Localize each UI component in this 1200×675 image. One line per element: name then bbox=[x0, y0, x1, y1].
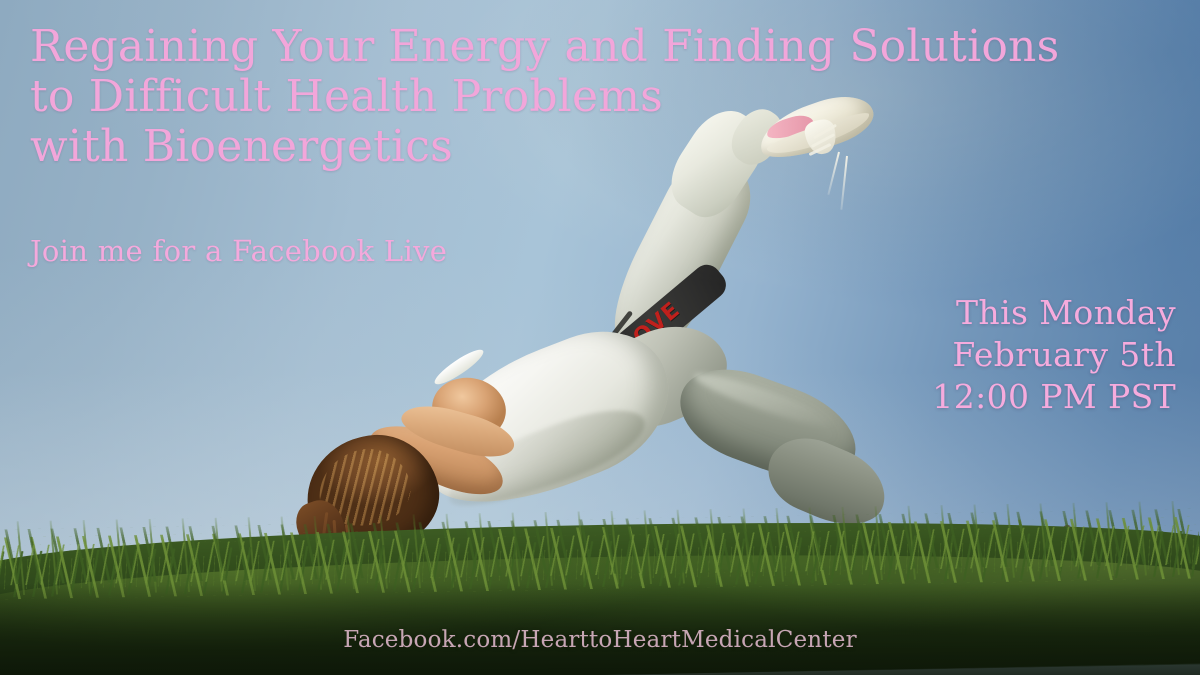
subheadline: Join me for a Facebook Live bbox=[30, 234, 447, 268]
event-datetime: This Monday February 5th 12:00 PM PST bbox=[932, 292, 1176, 418]
page-title: Regaining Your Energy and Finding Soluti… bbox=[30, 22, 1059, 172]
facebook-page-url: Facebook.com/HearttoHeartMedicalCenter bbox=[0, 627, 1200, 653]
promo-poster: LOVE bbox=[0, 0, 1200, 675]
